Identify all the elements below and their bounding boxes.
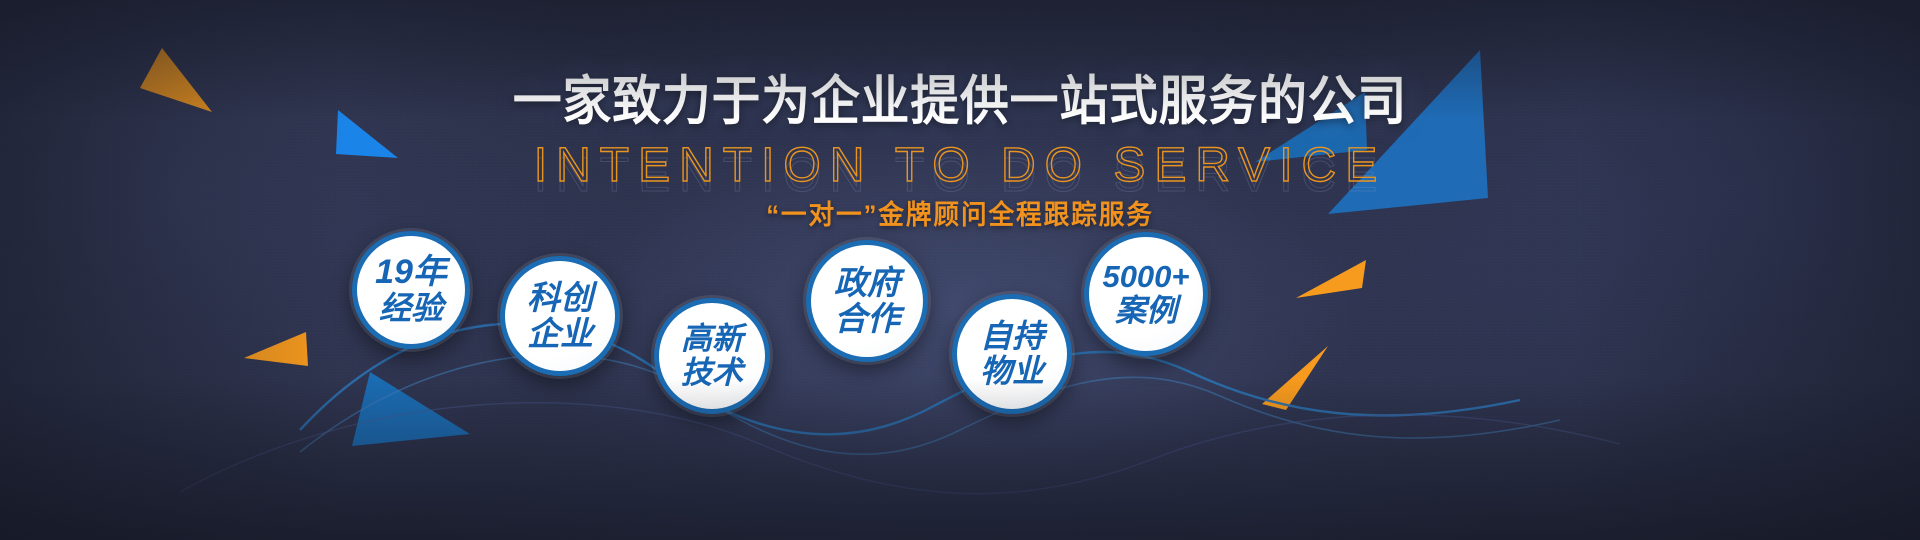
triangle-blue-bottom-left-icon [352, 372, 482, 462]
badge-line1: 19年 [375, 255, 447, 290]
english-subtitle: INTENTION TO DO SERVICE [0, 140, 1920, 192]
badge-line2: 案例 [1115, 295, 1177, 327]
badge-tech-startup[interactable]: 科创 企业 [500, 256, 620, 376]
badge-line1: 自持 [980, 320, 1044, 353]
badge-owned-property[interactable]: 自持 物业 [952, 294, 1072, 414]
badge-experience[interactable]: 19年 经验 [352, 231, 470, 349]
badge-line1: 高新 [681, 323, 743, 355]
triangle-orange-mid-right-icon [1296, 258, 1376, 322]
badge-line2: 技术 [681, 357, 743, 389]
badge-line2: 企业 [527, 317, 593, 351]
promo-banner: INTENTION TO DO SERVICE 一家致力于为企业提供一站式服务的… [0, 0, 1920, 540]
badge-high-tech[interactable]: 高新 技术 [654, 298, 770, 414]
badge-line1: 5000+ [1102, 261, 1189, 293]
triangle-orange-bottom-right-icon [1262, 346, 1342, 418]
badge-government-cooperation[interactable]: 政府 合作 [806, 240, 928, 362]
badge-line2: 物业 [980, 355, 1044, 388]
tagline: “一对一”金牌顾问全程跟踪服务 [48, 199, 1872, 231]
badge-line2: 合作 [834, 302, 900, 336]
main-title: 一家致力于为企业提供一站式服务的公司 [77, 73, 1843, 131]
badge-line2: 经验 [379, 292, 443, 325]
triangle-orange-mid-left-icon [244, 322, 314, 372]
badge-line1: 政府 [834, 266, 900, 300]
badge-cases[interactable]: 5000+ 案例 [1084, 232, 1208, 356]
badge-line1: 科创 [527, 281, 593, 315]
